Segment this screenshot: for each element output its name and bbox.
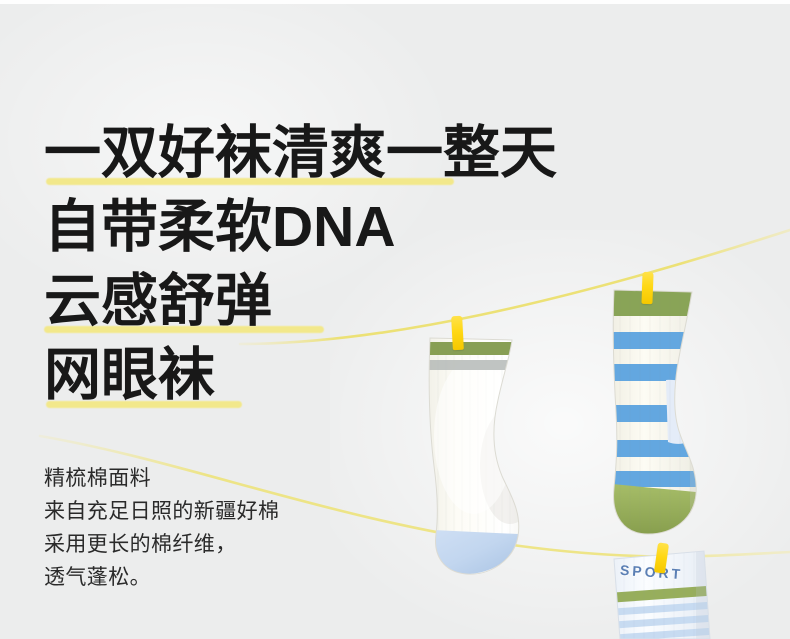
subcopy-line-4: 透气蓬松。	[44, 561, 374, 594]
sock-white-mesh	[418, 316, 548, 582]
top-edge-strip	[0, 0, 790, 4]
headline-text-2: 自带柔软DNA	[44, 195, 396, 259]
headline-block: 一双好袜清爽一整天 自带柔软DNA 云感舒弹 网眼袜	[44, 116, 644, 412]
subcopy-block: 精梳棉面料 来自充足日照的新疆好棉 采用更长的棉纤维， 透气蓬松。	[44, 462, 374, 594]
subcopy-line-2: 来自充足日照的新疆好棉	[44, 495, 374, 528]
clothespin-icon	[641, 272, 653, 304]
headline-text-1: 一双好袜清爽一整天	[44, 121, 557, 185]
sock-blue-striped-illustration	[600, 272, 726, 540]
headline-line-3: 云感舒弹	[44, 264, 644, 338]
product-poster: 一双好袜清爽一整天 自带柔软DNA 云感舒弹 网眼袜 精梳棉面料 来自充足日照的…	[0, 0, 790, 639]
sock-sport: SPORT	[606, 545, 722, 639]
sock-white-mesh-illustration	[418, 316, 548, 582]
headline-text-3: 云感舒弹	[44, 269, 272, 333]
headline-line-1: 一双好袜清爽一整天	[44, 116, 644, 190]
subcopy-line-1: 精梳棉面料	[44, 462, 374, 495]
subcopy-line-3: 采用更长的棉纤维，	[44, 528, 374, 561]
clothespin-icon	[451, 316, 464, 351]
headline-text-4: 网眼袜	[44, 343, 215, 407]
headline-line-4: 网眼袜	[44, 338, 644, 412]
sock-blue-striped	[600, 272, 726, 540]
headline-line-2: 自带柔软DNA	[44, 190, 644, 264]
